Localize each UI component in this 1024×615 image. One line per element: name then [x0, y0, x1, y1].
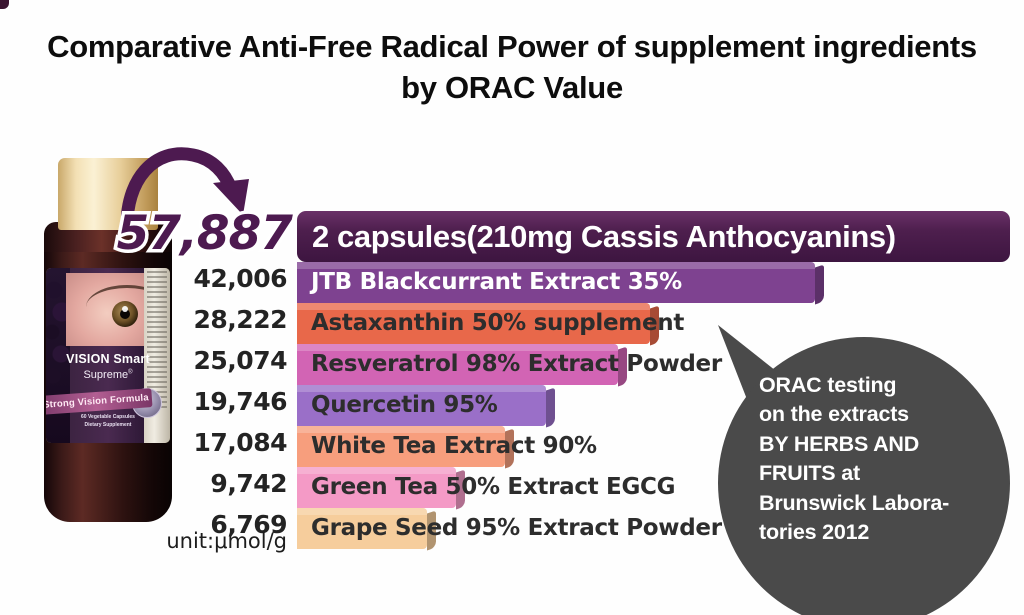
- bar-label: White Tea Extract 90%: [311, 426, 597, 467]
- callout-line-6: tories 2012: [759, 518, 997, 547]
- value-column: 42,006 28,222 25,074 19,746 17,084 9,742…: [120, 258, 287, 545]
- bar-row: 2 capsules(210mg Cassis Anthocyanins): [297, 211, 1010, 262]
- bar-label: Green Tea 50% Extract EGCG: [311, 467, 675, 508]
- value-label: 25,074: [120, 340, 287, 381]
- callout-line-1: ORAC testing: [759, 371, 997, 400]
- title-line-1: Comparative Anti-Free Radical Power of s…: [47, 29, 977, 64]
- value-label: 17,084: [120, 422, 287, 463]
- bar-label: Grape Seed 95% Extract Powder: [311, 508, 722, 549]
- bar-label: 2 capsules(210mg Cassis Anthocyanins): [297, 219, 896, 255]
- callout-line-1-rest: testing: [822, 373, 897, 397]
- value-label: 9,742: [120, 463, 287, 504]
- callout-bubble: ORAC testing on the extracts BY HERBS AN…: [704, 313, 1024, 615]
- callout-strong: ORAC: [759, 373, 822, 397]
- callout-line-2: on the extracts: [759, 400, 997, 429]
- bar-label: Quercetin 95%: [311, 385, 498, 426]
- callout-line-3: BY HERBS AND: [759, 430, 997, 459]
- infographic-canvas: Comparative Anti-Free Radical Power of s…: [0, 0, 1024, 615]
- bar-label: JTB Blackcurrant Extract 35%: [311, 262, 682, 303]
- page-title: Comparative Anti-Free Radical Power of s…: [0, 26, 1024, 108]
- value-label: 28,222: [120, 299, 287, 340]
- bar-label: Resveratrol 98% Extract Powder: [311, 344, 722, 385]
- value-label: 19,746: [120, 381, 287, 422]
- callout-line-4: FRUITS at: [759, 459, 997, 488]
- callout-line-5: Brunswick Labora-: [759, 489, 997, 518]
- title-line-2: by ORAC Value: [0, 67, 1024, 108]
- unit-label: unit:μmol/g: [120, 529, 287, 553]
- value-label: 42,006: [120, 258, 287, 299]
- corner-mark: [0, 0, 9, 9]
- hero-value: 57,887: [112, 206, 292, 261]
- callout-text: ORAC testing on the extracts BY HERBS AN…: [759, 371, 997, 548]
- bar-label: Astaxanthin 50% supplement: [311, 303, 684, 344]
